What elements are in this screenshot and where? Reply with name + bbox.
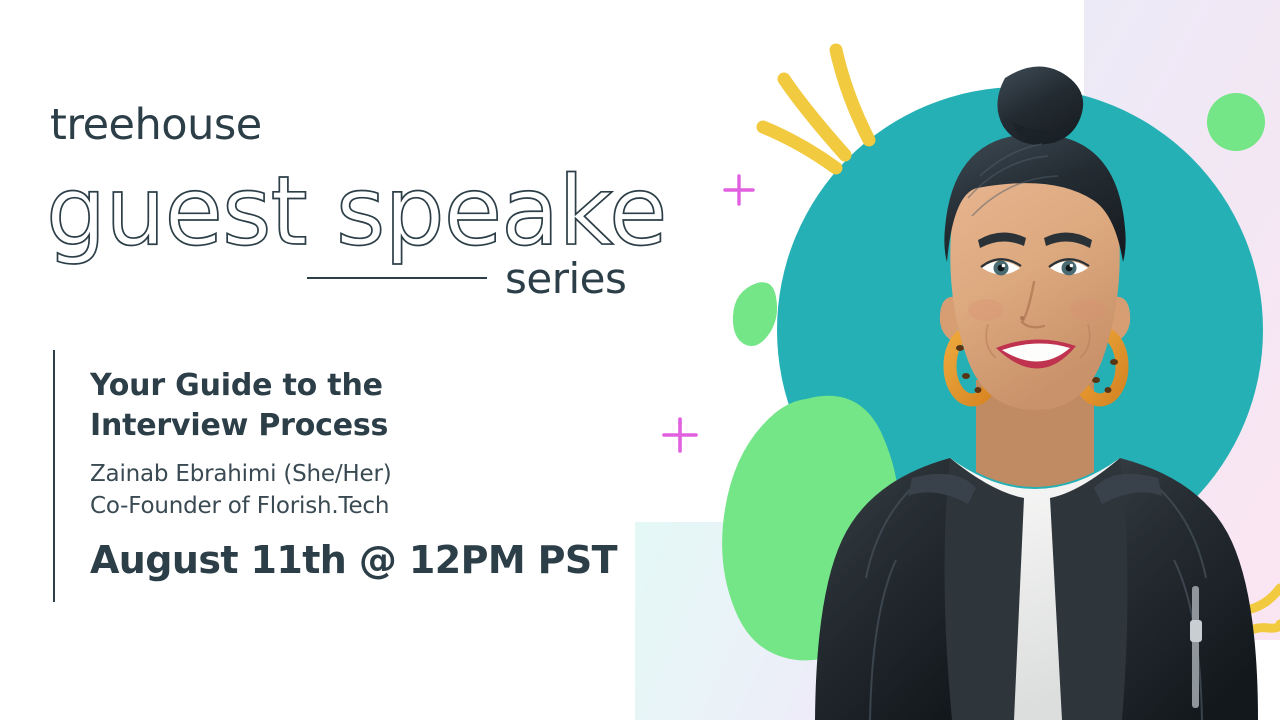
magenta-plus-upper	[725, 176, 753, 204]
pastel-panel-top-right	[1084, 0, 1280, 640]
speaker-role: Co-Founder of Florish.Tech	[90, 490, 650, 522]
talk-title-line-2: Interview Process	[90, 406, 650, 446]
headline-text: guest speaker	[46, 160, 664, 267]
eye-right	[1049, 259, 1089, 275]
series-row: series	[300, 256, 630, 302]
green-bean-blob	[733, 282, 777, 346]
promo-slide: treehouse guest speaker series Your Guid…	[0, 0, 1280, 720]
event-date-time: August 11th @ 12PM PST	[90, 536, 650, 584]
leopard-earring-right	[1078, 332, 1122, 400]
jacket-zipper	[1190, 586, 1202, 708]
green-circle-top-right	[1207, 93, 1265, 151]
yellow-sparkle-strokes	[763, 50, 869, 168]
series-label: series	[505, 256, 626, 302]
green-blob-large	[722, 396, 900, 661]
vertical-accent-rule	[53, 350, 55, 602]
talk-title-line-1: Your Guide to the	[90, 366, 650, 406]
event-details: Your Guide to the Interview Process Zain…	[90, 366, 650, 584]
text-column: treehouse guest speaker series Your Guid…	[0, 0, 680, 720]
yellow-wavy-lines	[1182, 588, 1280, 650]
speaker-portrait	[800, 30, 1270, 720]
talk-title: Your Guide to the Interview Process	[90, 366, 650, 446]
eye-left	[981, 259, 1021, 275]
teal-circle	[777, 87, 1263, 573]
speaker-name: Zainab Ebrahimi (She/Her)	[90, 458, 650, 490]
brand-wordmark: treehouse	[50, 104, 262, 147]
series-divider-rule	[307, 277, 487, 279]
green-circle-bottom	[941, 586, 1009, 654]
leopard-earring-left	[950, 332, 994, 400]
